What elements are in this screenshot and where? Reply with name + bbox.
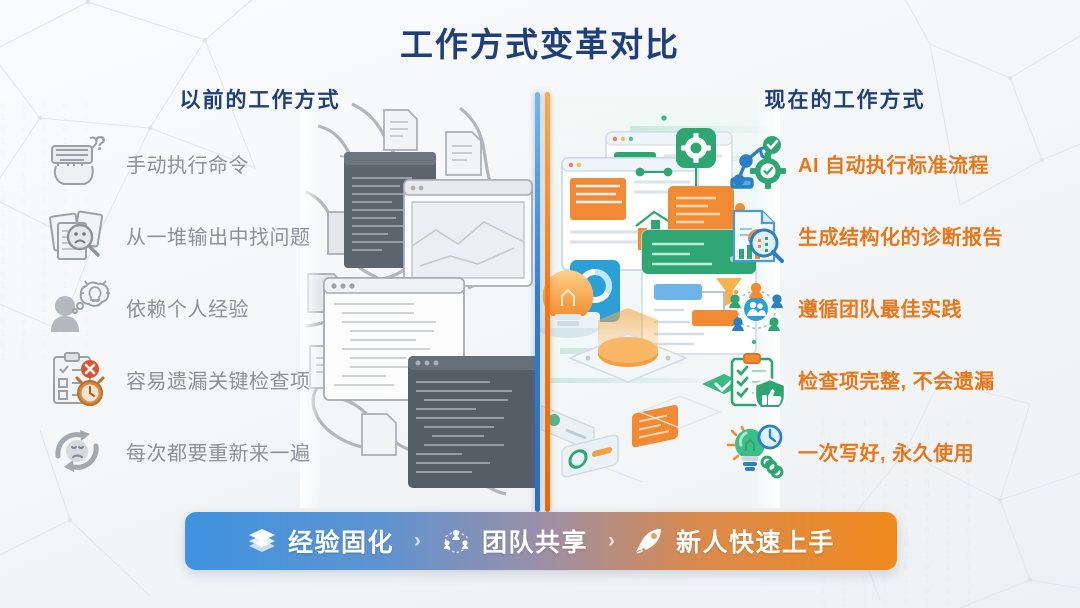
list-item: AI 自动执行标准流程 xyxy=(720,128,1056,198)
robot-arm-gear-check-icon xyxy=(720,135,794,191)
list-item-label: 一次写好, 永久使用 xyxy=(794,437,974,466)
center-divider xyxy=(532,92,554,512)
layers-icon xyxy=(247,526,277,556)
banner-step-experience[interactable]: 经验固化 xyxy=(247,523,394,559)
list-item-label: 从一堆输出中找问题 xyxy=(116,221,311,250)
banner-step-newcomer[interactable]: 新人快速上手 xyxy=(635,523,835,559)
divider-blue-line xyxy=(535,92,540,512)
list-item: 生成结构化的诊断报告 xyxy=(720,200,1056,270)
divider-orange-line xyxy=(545,92,550,512)
list-item-label: 手动执行命令 xyxy=(116,149,249,178)
list-item: 检查项完整, 不会遗漏 xyxy=(720,344,1056,414)
list-item: 遵循团队最佳实践 xyxy=(720,272,1056,342)
list-item: 从一堆输出中找问题 xyxy=(42,200,372,270)
list-item-label: 容易遗漏关键检查项 xyxy=(116,365,311,394)
list-item-label: 依赖个人经验 xyxy=(116,293,249,322)
refresh-cycle-tired-icon xyxy=(42,424,116,478)
left-column-heading: 以前的工作方式 xyxy=(95,84,425,114)
list-item: 容易遗漏关键检查项 xyxy=(42,344,372,414)
banner-step-label: 团队共享 xyxy=(482,523,588,559)
list-item-label: 检查项完整, 不会遗漏 xyxy=(794,365,995,394)
checklist-shield-thumbup-icon xyxy=(720,351,794,407)
list-item-label: 生成结构化的诊断报告 xyxy=(794,221,1003,250)
banner-step-label: 新人快速上手 xyxy=(676,523,835,559)
banner-separator: › xyxy=(408,529,427,553)
center-illustration xyxy=(300,96,780,508)
summary-banner: 经验固化 › 团队共享 › xyxy=(185,512,897,570)
list-item: 一次写好, 永久使用 xyxy=(720,416,1056,486)
list-item-label: 每次都要重新来一遍 xyxy=(116,437,311,466)
svg-text:?: ? xyxy=(94,136,106,155)
team-share-icon xyxy=(441,526,471,556)
report-chart-magnifier-icon xyxy=(720,207,794,263)
banner-step-team-share[interactable]: 团队共享 xyxy=(441,523,588,559)
list-item: 依赖个人经验 xyxy=(42,272,372,342)
team-network-icon xyxy=(720,279,794,335)
list-item-label: 遵循团队最佳实践 xyxy=(794,293,962,322)
infographic-slide: 1 0 1 0 0 1 1 0 0 1 1 0 1 0 0 1 1 1 0 1 … xyxy=(0,0,1080,608)
banner-step-label: 经验固化 xyxy=(288,523,394,559)
bulb-clock-infinity-icon xyxy=(720,423,794,479)
person-thought-bulb-icon xyxy=(42,280,116,334)
list-item: 每次都要重新来一遍 xyxy=(42,416,372,486)
old-way-list: ? 手动执行命令 xyxy=(42,128,372,488)
banner-separator: › xyxy=(602,529,621,553)
documents-magnifier-sad-icon xyxy=(42,207,116,263)
rocket-icon xyxy=(635,526,665,556)
list-item-label: AI 自动执行标准流程 xyxy=(794,149,989,178)
page-title: 工作方式变革对比 xyxy=(0,18,1080,66)
right-column-heading: 现在的工作方式 xyxy=(680,84,1010,114)
list-item: ? 手动执行命令 xyxy=(42,128,372,198)
new-way-list: AI 自动执行标准流程 xyxy=(720,128,1056,488)
checklist-error-alarm-icon xyxy=(42,351,116,407)
keyboard-hands-question-icon: ? xyxy=(42,136,116,190)
